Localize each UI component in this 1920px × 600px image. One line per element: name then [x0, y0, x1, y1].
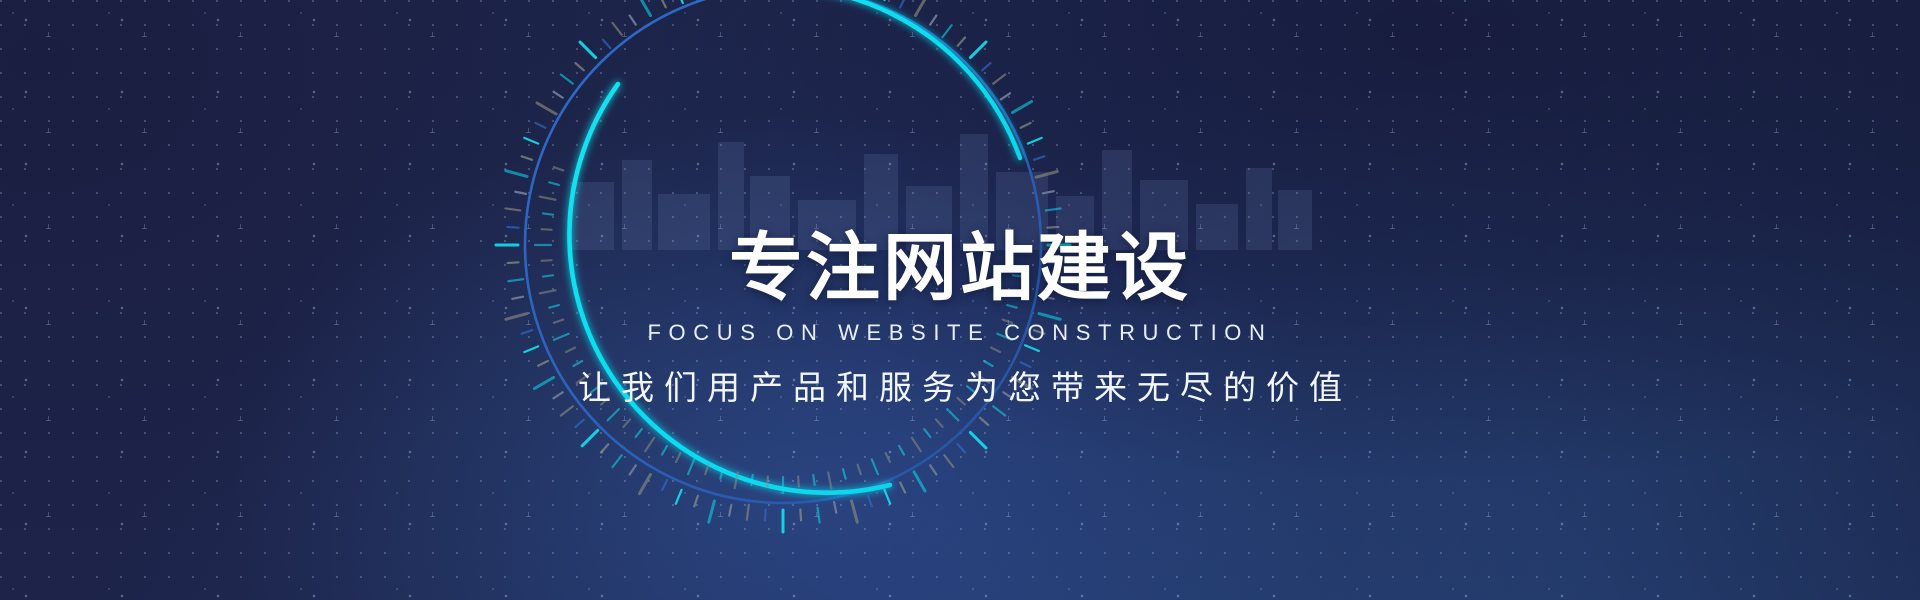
ring-tick: [980, 418, 988, 425]
ring-tick: [944, 455, 953, 467]
tagline: 让我们用产品和服务为您带来无尽的价值: [568, 368, 1352, 408]
ring-tick: [930, 16, 936, 25]
ring-tick-inner: [662, 446, 667, 455]
ring-tick: [575, 63, 583, 70]
ring-tick: [676, 490, 682, 504]
ring-tick: [729, 505, 731, 516]
ring-tick: [640, 475, 651, 494]
ring-tick-inner: [540, 197, 556, 200]
ring-tick: [958, 37, 965, 45]
ring-tick: [575, 420, 583, 427]
ring-tick: [554, 392, 563, 398]
ring-tick: [765, 509, 766, 520]
ring-tick-inner: [843, 469, 846, 479]
ring-tick: [582, 430, 598, 446]
ring-tick-inner: [912, 438, 921, 451]
ring-tick-inner: [872, 459, 878, 474]
ring-tick: [580, 42, 596, 58]
ring-tick: [537, 103, 556, 114]
ring-tick-inner: [991, 348, 1000, 352]
ring-tick: [914, 472, 925, 491]
ring-tick-inner: [636, 429, 642, 437]
ring-tick: [522, 330, 532, 334]
ring-tick: [640, 0, 651, 16]
ring-tick: [958, 444, 965, 452]
ring-tick-inner: [623, 419, 630, 427]
ring-tick: [1039, 314, 1060, 320]
ring-tick: [900, 483, 905, 493]
ring-tick: [852, 501, 858, 522]
ring-tick: [1046, 208, 1061, 210]
ring-tick-inner: [798, 477, 799, 487]
ring-tick: [1025, 345, 1039, 351]
ring-tick: [524, 346, 538, 352]
ring-tick: [515, 192, 526, 194]
ring-tick: [970, 432, 986, 448]
ring-tick: [524, 138, 538, 144]
ring-tick-inner: [549, 305, 559, 308]
ring-tick: [694, 496, 698, 506]
ring-tick-inner: [566, 348, 575, 352]
ring-tick: [538, 361, 548, 366]
ring-tick: [613, 23, 622, 35]
ring-tick: [800, 509, 801, 520]
ring-tick-inner: [540, 290, 556, 293]
ring-tick: [603, 40, 610, 48]
ring-tick-inner: [608, 409, 619, 420]
ring-tick-inner: [676, 453, 680, 462]
ring-tick: [834, 502, 836, 513]
ring-tick-inner: [767, 477, 768, 487]
ring-tick: [554, 92, 563, 98]
ring-tick-inner: [554, 167, 563, 170]
ring-tick: [561, 75, 573, 84]
ring-tick-inner: [858, 465, 861, 474]
ring-tick-inner: [645, 438, 654, 451]
ring-tick-inner: [813, 475, 814, 485]
ring-arc-cyan-top: [783, 0, 1020, 158]
ring-tick-inner: [705, 465, 708, 474]
ring-tick-inner: [542, 229, 552, 230]
ring-tick: [709, 501, 715, 522]
ring-tick: [508, 279, 523, 281]
ring-tick: [677, 0, 683, 3]
ring-tick: [1034, 156, 1044, 160]
ring-tick: [508, 227, 519, 228]
subtitle-english: FOCUS ON WEBSITE CONSTRUCTION: [648, 320, 1273, 346]
ring-tick-inner: [751, 475, 752, 485]
ring-tick: [535, 123, 545, 128]
ring-tick: [930, 465, 936, 474]
ring-tick: [943, 25, 952, 37]
ring-tick-inner: [543, 275, 553, 276]
ring-tick-inner: [573, 361, 582, 366]
hero-banner: 专注网站建设 FOCUS ON WEBSITE CONSTRUCTION 让我们…: [0, 0, 1920, 600]
ring-tick: [506, 171, 527, 177]
ring-tick: [993, 75, 1005, 84]
ring-tick-inner: [936, 419, 943, 427]
ring-tick: [1013, 102, 1032, 113]
ring-tick: [630, 465, 636, 474]
ring-tick-inner: [688, 459, 694, 474]
ring-tick: [601, 444, 608, 452]
ring-tick-inner: [886, 453, 890, 462]
ring-tick: [505, 208, 520, 210]
ring-tick-inner: [924, 429, 930, 437]
ring-tick: [868, 496, 872, 506]
ring-tick: [916, 0, 927, 16]
ring-tick-inner: [828, 473, 831, 489]
ring-tick: [508, 262, 519, 263]
ring-tick: [613, 455, 622, 467]
ring-tick: [1043, 191, 1054, 193]
ring-tick-inner: [899, 446, 904, 455]
ring-tick: [661, 0, 666, 7]
ring-tick-inner: [554, 320, 563, 323]
ring-tick-inner: [542, 260, 552, 261]
ring-tick: [662, 480, 667, 490]
ring-tick: [1001, 93, 1010, 99]
ring-tick: [630, 16, 636, 25]
ring-tick: [884, 490, 890, 504]
ring-tick: [506, 314, 527, 320]
ring-tick: [534, 378, 553, 389]
ring-tick: [970, 42, 986, 58]
ring-tick: [818, 508, 820, 523]
ring-tick: [1028, 138, 1042, 144]
ring-tick-inner: [984, 361, 993, 366]
ring-tick-inner: [549, 182, 559, 185]
ring-tick-inner: [543, 213, 553, 214]
ring-tick: [900, 0, 905, 7]
ring-tick: [1021, 123, 1031, 128]
ring-tick-inner: [554, 334, 569, 340]
ring-tick: [1036, 172, 1057, 178]
ring-tick: [1021, 362, 1031, 367]
ring-tick-inner: [947, 409, 958, 420]
ring-tick: [747, 505, 749, 520]
ring-tick: [982, 63, 990, 70]
ring-tick: [522, 156, 532, 160]
page-title: 专注网站建设: [729, 228, 1191, 308]
ring-tick: [512, 297, 523, 299]
